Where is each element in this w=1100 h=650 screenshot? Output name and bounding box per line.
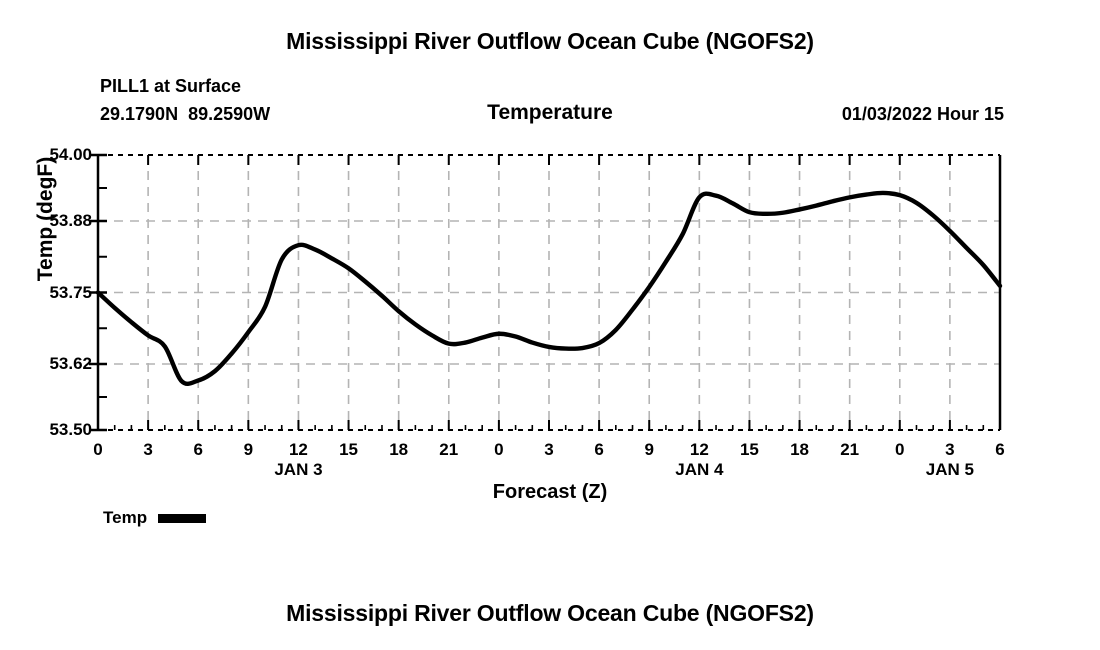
y-tick-label: 53.62: [30, 354, 92, 374]
x-tick-label: 9: [228, 440, 268, 460]
chart-page: Mississippi River Outflow Ocean Cube (NG…: [0, 0, 1100, 650]
x-tick-label: 0: [78, 440, 118, 460]
x-tick-label: 9: [629, 440, 669, 460]
legend-label: Temp: [103, 508, 147, 528]
x-tick-label: 6: [980, 440, 1020, 460]
legend: Temp: [103, 508, 206, 528]
x-tick-label: 12: [679, 440, 719, 460]
legend-swatch-temp: [158, 514, 206, 523]
x-tick-label: 18: [780, 440, 820, 460]
y-tick-label: 54.00: [30, 145, 92, 165]
x-tick-label: 15: [729, 440, 769, 460]
x-tick-label: 12: [278, 440, 318, 460]
y-tick-label: 53.88: [30, 211, 92, 231]
x-tick-label: 3: [930, 440, 970, 460]
x-tick-label: 21: [830, 440, 870, 460]
y-tick-label: 53.75: [30, 283, 92, 303]
x-day-label: JAN 3: [238, 460, 358, 480]
x-tick-label: 15: [329, 440, 369, 460]
x-tick-label: 3: [128, 440, 168, 460]
x-tick-label: 0: [880, 440, 920, 460]
x-tick-label: 21: [429, 440, 469, 460]
x-day-label: JAN 5: [890, 460, 1010, 480]
x-tick-label: 0: [479, 440, 519, 460]
x-day-label: JAN 4: [639, 460, 759, 480]
plot-area: [0, 0, 1100, 650]
y-tick-label: 53.50: [30, 420, 92, 440]
x-axis-title: Forecast (Z): [0, 481, 1100, 504]
x-tick-label: 3: [529, 440, 569, 460]
x-tick-label: 6: [579, 440, 619, 460]
x-tick-label: 6: [178, 440, 218, 460]
bottom-title: Mississippi River Outflow Ocean Cube (NG…: [0, 600, 1100, 627]
x-tick-label: 18: [379, 440, 419, 460]
